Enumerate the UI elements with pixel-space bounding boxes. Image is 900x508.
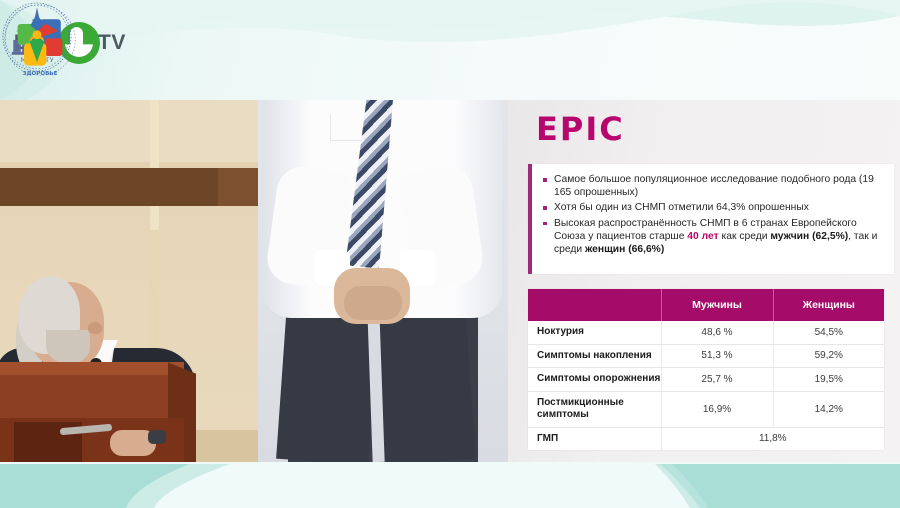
cell-voiding-women: 19,5% bbox=[773, 368, 884, 392]
reproductive-health-center-logo bbox=[0, 0, 74, 74]
prevalence-table-wrapper: Мужчины Женщины Ноктурия 48,6 % 54,5% Си… bbox=[528, 289, 884, 450]
bullet-text-2: Хотя бы один из СНМП отметили 64,3% опро… bbox=[554, 202, 809, 213]
cell-oab-combined: 11,8% bbox=[661, 427, 884, 450]
slide-title: EPIC bbox=[536, 110, 625, 148]
table-row: Постмикционные симптомы 16,9% 14,2% bbox=[528, 391, 884, 427]
bullet-highlight-age: 40 лет bbox=[687, 231, 718, 242]
bullet-list: Самое большое популяционное исследование… bbox=[532, 164, 894, 256]
speaker-beard bbox=[46, 330, 90, 364]
patient-fingers bbox=[344, 286, 402, 320]
row-label-oab: ГМП bbox=[528, 427, 661, 450]
bullet-text-3b: как среди bbox=[719, 231, 771, 242]
cell-postmicturition-women: 14,2% bbox=[773, 391, 884, 427]
cell-voiding-men: 25,7 % bbox=[661, 368, 773, 392]
bullet-item-1: Самое большое популяционное исследование… bbox=[554, 173, 886, 199]
prevalence-table: Мужчины Женщины Ноктурия 48,6 % 54,5% Си… bbox=[528, 289, 884, 450]
bullet-item-2: Хотя бы один из СНМП отметили 64,3% опро… bbox=[554, 201, 886, 214]
cell-storage-men: 51,3 % bbox=[661, 344, 773, 368]
bullet-list-box: Самое большое популяционное исследование… bbox=[528, 164, 894, 274]
patient-photo-panel[interactable] bbox=[258, 100, 508, 462]
bullet-item-3: Высокая распространённость СНМП в 6 стра… bbox=[554, 217, 886, 257]
table-header-women: Женщины bbox=[773, 289, 884, 321]
bullet-text-1: Самое большое популяционное исследование… bbox=[554, 174, 874, 198]
slide-stage: URO TV МНОЦ МГУ bbox=[0, 0, 900, 508]
wall-dark-beam-right bbox=[218, 168, 258, 206]
presentation-slide: EPIC Самое большое популяционное исследо… bbox=[508, 100, 900, 462]
footer-decoration bbox=[0, 462, 900, 508]
table-row: ГМП 11,8% bbox=[528, 427, 884, 450]
podium-top-edge bbox=[0, 362, 184, 375]
lecture-hall-upper-wall bbox=[0, 100, 258, 162]
row-label-storage: Симптомы накопления bbox=[528, 344, 661, 368]
bullet-bold-women: женщин (66,6%) bbox=[585, 244, 664, 255]
footer-wave-shape bbox=[0, 462, 900, 508]
row-label-voiding: Симптомы опорожнения bbox=[528, 368, 661, 392]
table-row: Ноктурия 48,6 % 54,5% bbox=[528, 321, 884, 344]
bullet-bold-men: мужчин (62,5%) bbox=[770, 231, 848, 242]
header-wave-decoration bbox=[0, 0, 900, 100]
uro-logo-text-right: TV bbox=[98, 31, 126, 55]
cell-storage-women: 59,2% bbox=[773, 344, 884, 368]
cell-postmicturition-men: 16,9% bbox=[661, 391, 773, 427]
cell-nocturia-men: 48,6 % bbox=[661, 321, 773, 344]
table-header-row: Мужчины Женщины bbox=[528, 289, 884, 321]
speaker-at-podium-video[interactable] bbox=[0, 100, 258, 462]
table-row: Симптомы накопления 51,3 % 59,2% bbox=[528, 344, 884, 368]
cell-nocturia-women: 54,5% bbox=[773, 321, 884, 344]
header-band: URO TV МНОЦ МГУ bbox=[0, 0, 900, 100]
table-header-men: Мужчины bbox=[661, 289, 773, 321]
table-header-blank bbox=[528, 289, 661, 321]
speaker-wristwatch bbox=[148, 430, 166, 444]
speaker-nose bbox=[88, 322, 102, 334]
row-label-postmicturition: Постмикционные симптомы bbox=[528, 391, 661, 427]
table-row: Симптомы опорожнения 25,7 % 19,5% bbox=[528, 368, 884, 392]
row-label-nocturia: Ноктурия bbox=[528, 321, 661, 344]
